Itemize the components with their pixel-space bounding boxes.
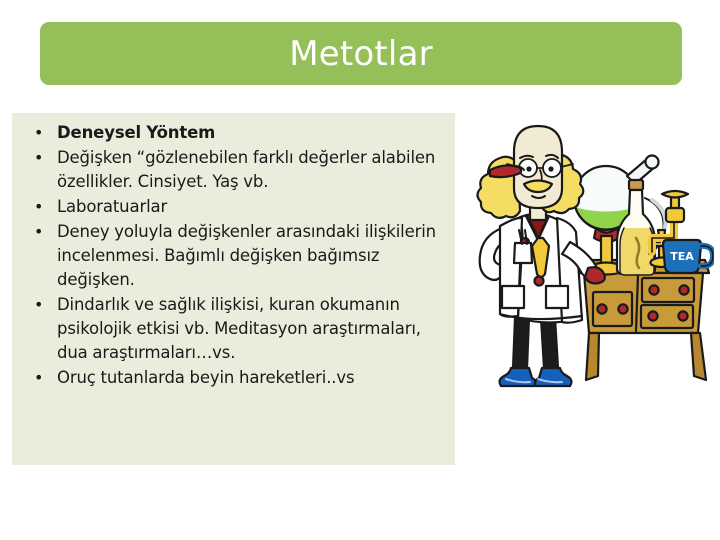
bullet-marker-icon: • — [34, 121, 44, 145]
scientist-laboratory-illustration: TEA — [462, 118, 714, 393]
scientist-figure — [478, 126, 605, 386]
tea-mug-icon: TEA — [663, 240, 713, 273]
list-item: • Oruç tutanlarda beyin hareketleri..vs — [12, 366, 449, 390]
list-item: • Dindarlık ve sağlık ilişkisi, kuran ok… — [12, 293, 449, 365]
bullet-marker-icon: • — [34, 195, 44, 219]
content-panel: • Deneysel Yöntem • Değişken “gözlenebil… — [12, 113, 455, 465]
bullet-marker-icon: • — [34, 293, 44, 317]
list-item: • Laboratuarlar — [12, 195, 449, 219]
bullet-list: • Deneysel Yöntem • Değişken “gözlenebil… — [12, 121, 449, 390]
list-item-text: Deney yoluyla değişkenler arasındaki ili… — [57, 220, 449, 292]
bullet-marker-icon: • — [34, 366, 44, 390]
list-item: • Deney yoluyla değişkenler arasındaki i… — [12, 220, 449, 292]
list-item: • Deneysel Yöntem — [12, 121, 449, 145]
list-item-text: Dindarlık ve sağlık ilişkisi, kuran okum… — [57, 293, 449, 365]
slide-canvas: Metotlar • Deneysel Yöntem • Değişken “g… — [0, 0, 720, 540]
bullet-marker-icon: • — [34, 146, 44, 170]
list-item: • Değişken “gözlenebilen farklı değerler… — [12, 146, 449, 194]
mug-label: TEA — [670, 250, 694, 263]
slide-title-banner: Metotlar — [40, 22, 682, 85]
list-item-text: Oruç tutanlarda beyin hareketleri..vs — [57, 366, 449, 390]
list-item-text: Laboratuarlar — [57, 195, 449, 219]
list-item-text: Deneysel Yöntem — [57, 121, 449, 145]
bullet-marker-icon: • — [34, 220, 44, 244]
list-item-text: Değişken “gözlenebilen farklı değerler a… — [57, 146, 449, 194]
page-title: Metotlar — [289, 37, 433, 71]
